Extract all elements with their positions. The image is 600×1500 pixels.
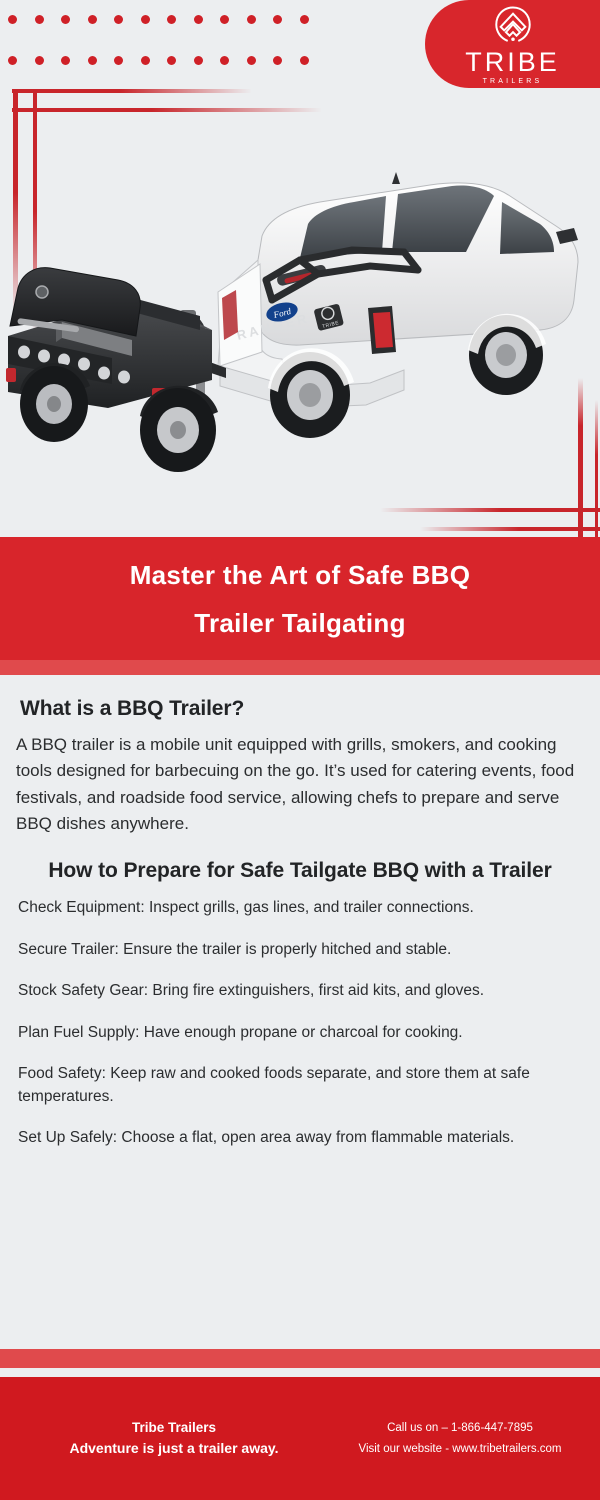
dot-icon (114, 56, 123, 65)
cross-decoration-line (380, 508, 600, 512)
dot-cell (220, 15, 247, 24)
dot-cell (8, 15, 35, 24)
dot-cell (88, 15, 115, 24)
cross-decoration-line (420, 527, 600, 531)
bbq-trailer-illustration (6, 268, 226, 472)
dot-row (8, 47, 328, 73)
dot-icon (88, 15, 97, 24)
dot-cell (247, 56, 274, 65)
corner-bracket-line (12, 108, 322, 112)
dot-icon (273, 15, 282, 24)
dot-icon (194, 15, 203, 24)
dot-icon (247, 15, 256, 24)
dot-cell (8, 56, 35, 65)
dot-icon (35, 15, 44, 24)
dot-icon (8, 15, 17, 24)
section-heading-what-is: What is a BBQ Trailer? (0, 675, 600, 721)
footer-tagline: Adventure is just a trailer away. (18, 1438, 330, 1459)
footer-section: Tribe Trailers Adventure is just a trail… (0, 1377, 600, 1500)
footer-brand-block: Tribe Trailers Adventure is just a trail… (0, 1418, 330, 1459)
dot-cell (167, 15, 194, 24)
dot-cell (35, 15, 62, 24)
dot-cell (300, 15, 327, 24)
footer-brand-name: Tribe Trailers (18, 1418, 330, 1438)
dot-icon (61, 15, 70, 24)
logo-wordmark: TRIBE (465, 49, 560, 76)
dot-cell (167, 56, 194, 65)
banner-accent-strip (0, 660, 600, 675)
list-item: Plan Fuel Supply: Have enough propane or… (18, 1022, 582, 1044)
dot-cell (220, 56, 247, 65)
dot-icon (8, 56, 17, 65)
list-item: Set Up Safely: Choose a flat, open area … (18, 1127, 582, 1149)
dot-icon (300, 15, 309, 24)
logo-subtext: TRAILERS (483, 78, 543, 85)
footer-contact-block: Call us on – 1-866-447-7895 Visit our we… (330, 1418, 600, 1458)
dot-cell (247, 15, 274, 24)
dot-cell (114, 15, 141, 24)
corner-bracket-line (12, 89, 252, 93)
tribe-trailers-logo[interactable]: TRIBE TRAILERS (425, 0, 600, 88)
dot-icon (61, 56, 70, 65)
list-item: Stock Safety Gear: Bring fire extinguish… (18, 980, 582, 1002)
dot-cell (300, 56, 327, 65)
footer-website[interactable]: Visit our website - www.tribetrailers.co… (330, 1439, 590, 1459)
dot-icon (273, 56, 282, 65)
dot-row (8, 6, 328, 32)
headline-line-1: Master the Art of Safe BBQ (130, 562, 471, 588)
pickup-truck-illustration: RANGER Ford TRIBE (218, 172, 578, 438)
list-item: Food Safety: Keep raw and cooked foods s… (18, 1063, 582, 1108)
dot-icon (167, 15, 176, 24)
dot-pattern-decoration (8, 6, 328, 73)
dot-icon (88, 56, 97, 65)
dot-cell (194, 56, 221, 65)
hero-section: TRIBE TRAILERS (0, 0, 600, 537)
dot-cell (273, 15, 300, 24)
dot-cell (35, 56, 62, 65)
dot-icon (194, 56, 203, 65)
dot-cell (273, 56, 300, 65)
headline-banner: Master the Art of Safe BBQ Trailer Tailg… (0, 537, 600, 660)
dot-icon (35, 56, 44, 65)
section-body-what-is: A BBQ trailer is a mobile unit equipped … (0, 721, 600, 837)
dot-icon (114, 15, 123, 24)
dot-icon (300, 56, 309, 65)
footer-accent-strip (0, 1349, 600, 1368)
tribe-arrow-emblem-icon (491, 4, 535, 48)
hero-product-photo: RANGER Ford TRIBE (0, 140, 600, 480)
infographic-page: TRIBE TRAILERS (0, 0, 600, 1500)
dot-cell (141, 56, 168, 65)
dot-cell (61, 15, 88, 24)
headline-line-2: Trailer Tailgating (194, 610, 406, 636)
list-item: Secure Trailer: Ensure the trailer is pr… (18, 939, 582, 961)
dot-cell (114, 56, 141, 65)
dot-cell (194, 15, 221, 24)
dot-icon (220, 15, 229, 24)
section-heading-how-to: How to Prepare for Safe Tailgate BBQ wit… (0, 837, 600, 883)
dot-cell (61, 56, 88, 65)
dot-icon (220, 56, 229, 65)
footer-phone[interactable]: Call us on – 1-866-447-7895 (330, 1418, 590, 1438)
dot-icon (141, 15, 150, 24)
list-item: Check Equipment: Inspect grills, gas lin… (18, 897, 582, 919)
content-area: What is a BBQ Trailer? A BBQ trailer is … (0, 675, 600, 1169)
dot-icon (167, 56, 176, 65)
dot-cell (88, 56, 115, 65)
preparation-steps-list: Check Equipment: Inspect grills, gas lin… (0, 883, 600, 1149)
dot-icon (247, 56, 256, 65)
dot-icon (141, 56, 150, 65)
dot-cell (141, 15, 168, 24)
